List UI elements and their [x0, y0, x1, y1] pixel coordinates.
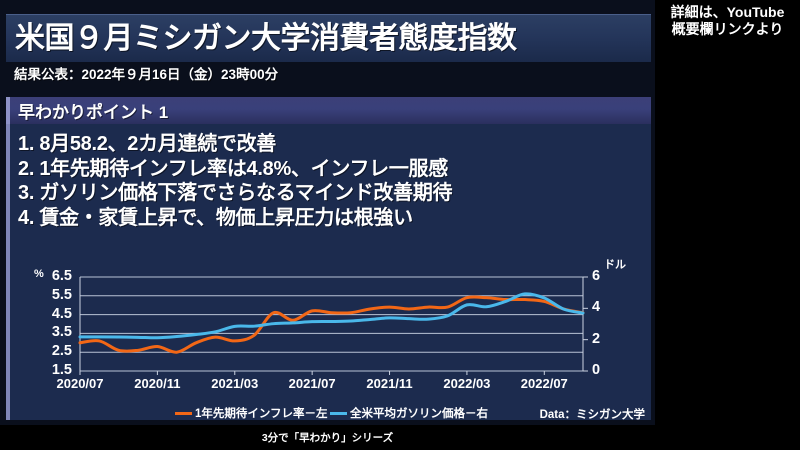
promo-sidebar: 詳細は、YouTube 概要欄リンクより TEAMハロンズ × 外為どっとコム … — [655, 0, 800, 450]
main-panel: 米国９月ミシガン大学消費者態度指数 結果公表：2022年９月16日（金）23時0… — [0, 0, 655, 450]
x-axis-tick-label: 2021/11 — [350, 376, 430, 391]
list-item: 4. 賃金・家賃上昇で、物価上昇圧力は根強い — [18, 206, 638, 231]
youtube-note-line1: 詳細は、YouTube — [671, 4, 785, 21]
chart-gridlines — [80, 277, 583, 371]
y-axis-tick-label: 4.5 — [36, 306, 72, 322]
y-axis-tick-label: 6.5 — [36, 268, 72, 284]
title-bar: 米国９月ミシガン大学消費者態度指数 — [6, 14, 651, 62]
chart-plot-frame — [80, 277, 588, 375]
y2-axis-tick-label: 0 — [592, 362, 612, 378]
points-list: 1. 8月58.2、2カ月連続で改善 2. 1年先期待インフレ率は4.8%、イン… — [18, 132, 638, 230]
publication-subtitle: 結果公表：2022年９月16日（金）23時00分 — [14, 63, 278, 83]
y-axis-tick-label: 5.5 — [36, 287, 72, 303]
y2-axis-tick-label: 2 — [592, 331, 612, 347]
list-item: 2. 1年先期待インフレ率は4.8%、インフレ一服感 — [18, 157, 638, 182]
list-item: 1. 8月58.2、2カ月連続で改善 — [18, 132, 638, 157]
legend-label-inflation: 1年先期待インフレ率－左 — [195, 405, 328, 421]
page-title: 米国９月ミシガン大学消費者態度指数 — [6, 24, 517, 54]
legend-swatch-inflation — [175, 412, 192, 415]
x-axis-tick-label: 2020/07 — [40, 376, 120, 391]
y2-axis-tick-label: 6 — [592, 268, 612, 284]
chart-series-layer — [80, 294, 583, 352]
points-section-header: 早わかりポイント 1 — [6, 97, 651, 124]
y-axis-tick-label: 2.5 — [36, 343, 72, 359]
chart-series-line-inflation — [80, 297, 583, 352]
legend-item-inflation: 1年先期待インフレ率－左 — [175, 405, 328, 421]
youtube-note: 詳細は、YouTube 概要欄リンクより — [655, 1, 800, 40]
chart-series-line-gasoline — [80, 294, 583, 338]
x-axis-tick-label: 2022/03 — [427, 376, 507, 391]
legend-item-gasoline: 全米平均ガソリン価格－右 — [330, 405, 488, 421]
list-item: 3. ガソリン価格下落でさらなるマインド改善期待 — [18, 181, 638, 206]
youtube-note-line2: 概要欄リンクより — [672, 21, 784, 38]
slide-root: 米国９月ミシガン大学消費者態度指数 結果公表：2022年９月16日（金）23時0… — [0, 0, 800, 450]
y-axis-tick-label: 3.5 — [36, 324, 72, 340]
x-axis-tick-label: 2021/07 — [272, 376, 352, 391]
legend-swatch-gasoline — [330, 412, 347, 415]
x-axis-tick-label: 2022/07 — [504, 376, 584, 391]
chart-data-source: Data：ミシガン大学 — [540, 406, 645, 422]
legend-label-gasoline: 全米平均ガソリン価格－右 — [350, 405, 488, 421]
footer-series-note: 3分で「早わかり」シリーズ — [262, 430, 393, 445]
x-axis-tick-label: 2021/03 — [195, 376, 275, 391]
y2-axis-tick-label: 4 — [592, 299, 612, 315]
footer-strip: 3分で「早わかり」シリーズ — [0, 425, 655, 450]
x-axis-tick-label: 2020/11 — [117, 376, 197, 391]
points-section-label: 早わかりポイント 1 — [10, 98, 168, 123]
